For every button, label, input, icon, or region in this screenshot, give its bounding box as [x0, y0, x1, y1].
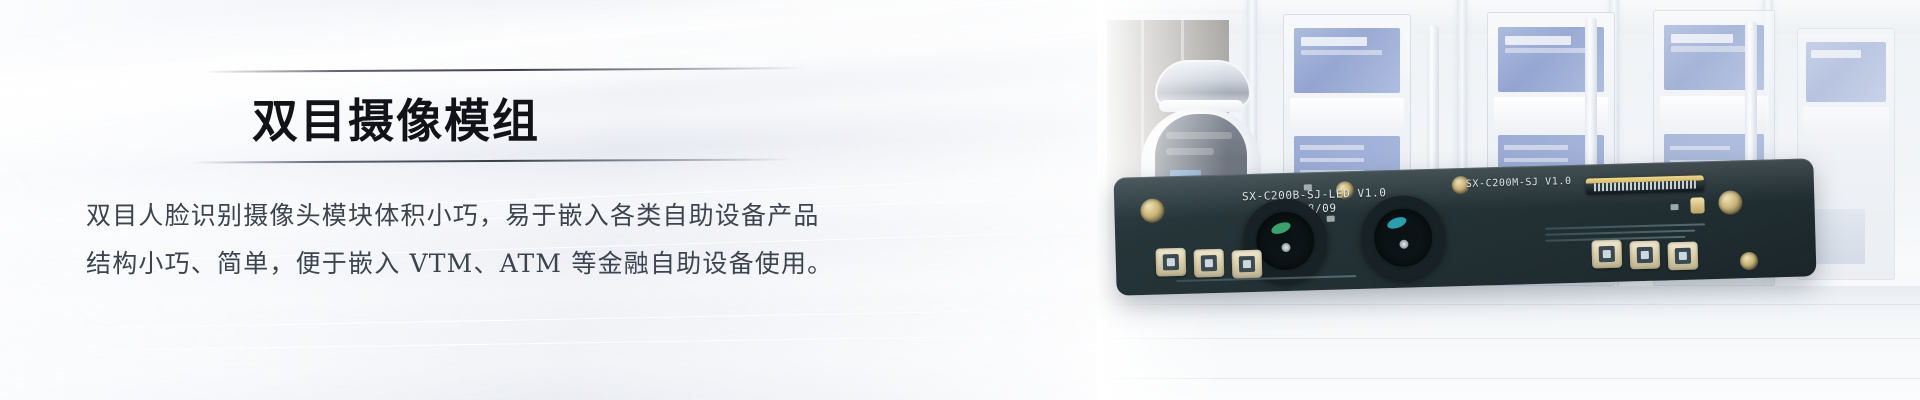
- description-line-1: 双目人脸识别摄像头模块体积小巧，易于嵌入各类自助设备产品: [86, 192, 896, 240]
- kiosk-sign-title: [1671, 34, 1733, 43]
- ribbon-decoration: [0, 0, 1100, 162]
- smd-component: [1304, 184, 1312, 190]
- product-photo: SX-C200B-SJ-LED V1.0 2023/08/09 SX-C200M…: [1097, 0, 1920, 400]
- description-line-2: 结构小巧、简单，便于嵌入 VTM、ATM 等金融自助设备使用。: [86, 240, 896, 288]
- kiosk-sign: [1294, 28, 1400, 92]
- ribbon-decoration: [0, 0, 1100, 165]
- ir-led: [1155, 248, 1186, 277]
- ribbon-decoration: [0, 290, 1100, 400]
- hairline-decoration: [0, 0, 1100, 93]
- smd-component: [1327, 216, 1335, 222]
- kiosk-sign-subtitle: [1505, 48, 1585, 53]
- product-banner: 双目摄像模组 双目人脸识别摄像头模块体积小巧，易于嵌入各类自助设备产品 结构小巧…: [0, 0, 1920, 400]
- floor: [1097, 286, 1920, 400]
- divider-below-title: [192, 158, 792, 163]
- text-panel: 双目摄像模组 双目人脸识别摄像头模块体积小巧，易于嵌入各类自助设备产品 结构小巧…: [0, 0, 1100, 400]
- kiosk-screen: [1811, 209, 1865, 264]
- divider-above-title: [205, 67, 805, 73]
- kiosk-sign-title: [1301, 37, 1367, 46]
- lens-barrel: [1256, 211, 1316, 271]
- ir-led: [1232, 250, 1263, 279]
- ir-led: [1668, 242, 1699, 271]
- fpc-connector: [1586, 175, 1704, 194]
- kiosk-sign-title: [1811, 50, 1861, 58]
- kiosk-top-panel: [1803, 107, 1889, 137]
- hairline-decoration: [0, 305, 1100, 333]
- camera-module-pcb: SX-C200B-SJ-LED V1.0 2023/08/09 SX-C200M…: [1113, 158, 1816, 295]
- kiosk-sign-subtitle: [1671, 46, 1748, 51]
- ir-led: [1591, 240, 1622, 269]
- ribbon-decoration: [0, 47, 1100, 185]
- smd-component: [1670, 204, 1678, 210]
- hairline-decoration: [0, 7, 1100, 111]
- lens-center-dot: [1399, 239, 1408, 248]
- page-title: 双目摄像模组: [252, 96, 540, 147]
- description-block: 双目人脸识别摄像头模块体积小巧，易于嵌入各类自助设备产品 结构小巧、简单，便于嵌…: [86, 192, 896, 288]
- hairline-decoration: [0, 331, 1100, 354]
- kiosk-sign-title: [1505, 36, 1571, 45]
- smd-capacitor: [1690, 197, 1704, 213]
- kiosk-sign: [1806, 42, 1887, 102]
- ir-led: [1194, 249, 1225, 278]
- lens-center-dot: [1281, 243, 1290, 252]
- ir-led: [1629, 241, 1660, 270]
- kiosk-sign-subtitle: [1301, 50, 1381, 55]
- kiosk-top-panel: [1290, 98, 1403, 130]
